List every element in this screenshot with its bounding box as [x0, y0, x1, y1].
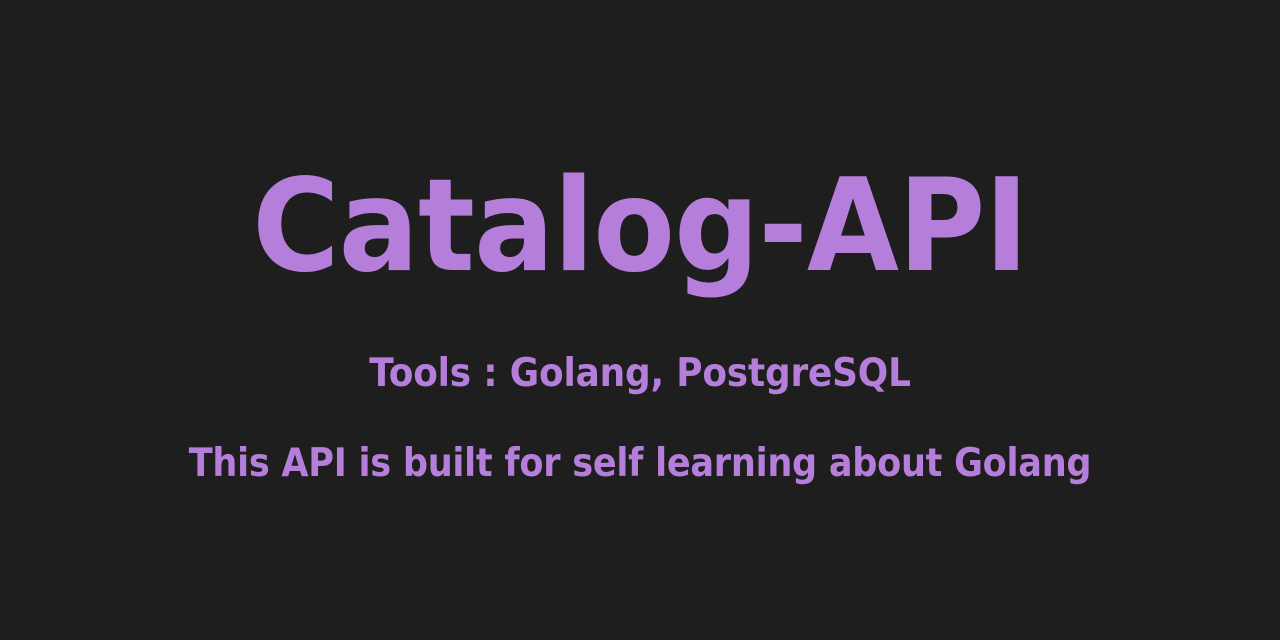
- project-banner: Catalog-API Tools : Golang, PostgreSQL T…: [0, 0, 1280, 640]
- project-description: This API is built for self learning abou…: [64, 444, 1216, 483]
- tools-subtitle: Tools : Golang, PostgreSQL: [51, 354, 1229, 393]
- page-title: Catalog-API: [45, 163, 1235, 291]
